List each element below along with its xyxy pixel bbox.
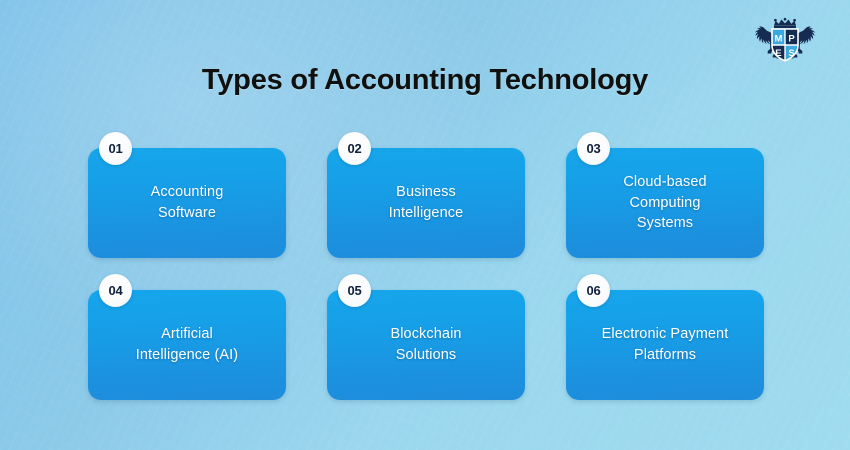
technology-card[interactable]: 01 Accounting Software <box>88 148 286 258</box>
infographic-canvas: M P E S Types of Accounting Technology 0… <box>0 0 850 450</box>
card-number-badge: 06 <box>577 274 610 307</box>
mpes-crest-logo: M P E S <box>742 14 828 66</box>
card-label: Accounting Software <box>151 182 224 223</box>
crown-icon <box>774 18 796 28</box>
card-number-badge: 01 <box>99 132 132 165</box>
shield-letter-m: M <box>774 33 782 44</box>
technology-card[interactable]: 03 Cloud-based Computing Systems <box>566 148 764 258</box>
technology-card[interactable]: 05 Blockchain Solutions <box>327 290 525 400</box>
shield-letter-e: E <box>775 48 781 59</box>
card-number-badge: 05 <box>338 274 371 307</box>
shield-letter-s: S <box>788 48 794 59</box>
card-label: Business Intelligence <box>389 182 464 223</box>
card-number-badge: 04 <box>99 274 132 307</box>
card-number-badge: 02 <box>338 132 371 165</box>
page-title: Types of Accounting Technology <box>0 64 850 97</box>
card-label: Cloud-based Computing Systems <box>623 172 706 234</box>
technology-card-grid: 01 Accounting Software 02 Business Intel… <box>88 148 764 400</box>
card-label: Artificial Intelligence (AI) <box>136 324 238 365</box>
card-label: Blockchain Solutions <box>390 324 461 365</box>
card-label: Electronic Payment Platforms <box>602 324 729 365</box>
shield-icon: M P E S <box>772 29 798 63</box>
technology-card[interactable]: 02 Business Intelligence <box>327 148 525 258</box>
shield-letter-p: P <box>788 33 795 44</box>
technology-card[interactable]: 04 Artificial Intelligence (AI) <box>88 290 286 400</box>
card-number-badge: 03 <box>577 132 610 165</box>
technology-card[interactable]: 06 Electronic Payment Platforms <box>566 290 764 400</box>
